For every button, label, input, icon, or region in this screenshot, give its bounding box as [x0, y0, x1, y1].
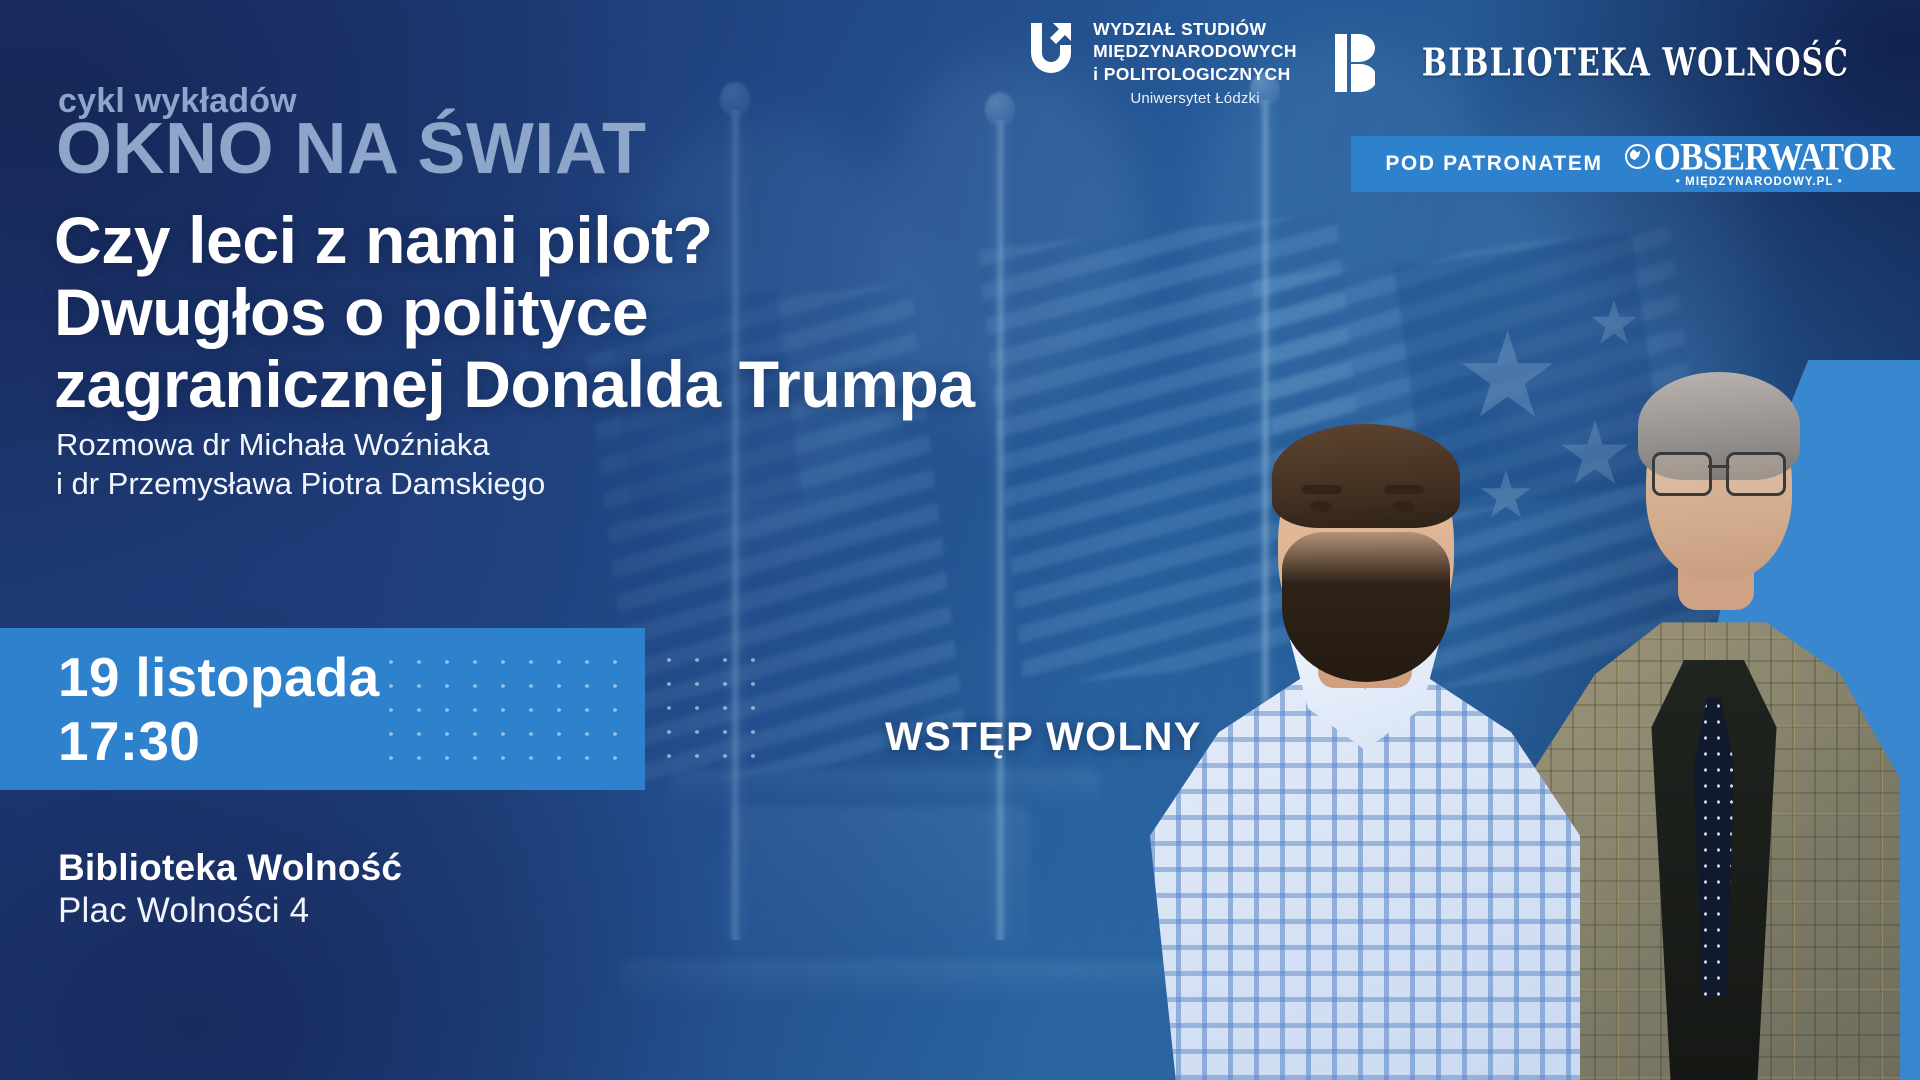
patron-label: POD PATRONATEM [1385, 152, 1602, 176]
university-faculty-line-1: WYDZIAŁ STUDIÓW [1093, 18, 1297, 40]
dot-pattern-inner [377, 650, 627, 770]
free-entry-label: WSTĘP WOLNY [885, 715, 1202, 760]
date-time-band: 19 listopada 17:30 [0, 628, 645, 790]
series-name: OKNO NA ŚWIAT [56, 112, 646, 188]
venue-name: Biblioteka Wolność [58, 845, 402, 890]
title-line-1: Czy leci z nami pilot? [54, 205, 975, 277]
ul-arrow-mark-icon [1027, 21, 1079, 75]
event-time: 17:30 [58, 710, 380, 774]
university-faculty-line-2: MIĘDZYNARODOWYCH [1093, 40, 1297, 62]
university-faculty-line-3: i POLITOLOGICZNYCH [1093, 63, 1297, 85]
logo-row: WYDZIAŁ STUDIÓW MIĘDZYNARODOWYCH i POLIT… [1027, 18, 1858, 107]
observator-wordmark: OBSERWATOR [1654, 137, 1894, 176]
page-title: Czy leci z nami pilot? Dwugłos o polityc… [54, 205, 975, 421]
library-wordmark: BIBLIOTEKA WOLNOŚĆ [1422, 40, 1849, 85]
university-logo: WYDZIAŁ STUDIÓW MIĘDZYNARODOWYCH i POLIT… [1027, 18, 1297, 107]
venue-address: Plac Wolności 4 [58, 890, 402, 933]
speaker-photos [1150, 280, 1920, 1080]
title-line-2: Dwugłos o polityce [54, 277, 975, 349]
speaker-line-1: Rozmowa dr Michała Woźniaka [56, 425, 545, 464]
venue-block: Biblioteka Wolność Plac Wolności 4 [58, 845, 402, 933]
globe-icon [1625, 144, 1650, 169]
title-line-3: zagranicznej Donalda Trumpa [54, 349, 975, 421]
dot-pattern-outer [655, 648, 767, 768]
speaker-photo-right [1528, 350, 1900, 1080]
speaker-line-2: i dr Przemysława Piotra Damskiego [56, 464, 545, 503]
event-poster: WYDZIAŁ STUDIÓW MIĘDZYNARODOWYCH i POLIT… [0, 0, 1920, 1080]
university-institution-name: Uniwersytet Łódzki [1093, 90, 1297, 107]
speaker-photo-left [1150, 380, 1580, 1080]
date-time-text: 19 listopada 17:30 [58, 646, 380, 774]
biblioteka-b-mark-icon [1335, 34, 1375, 92]
patron-bar: POD PATRONATEM OBSERWATOR • MIĘDZYNARODO… [1351, 136, 1920, 192]
observator-logo: OBSERWATOR • MIĘDZYNARODOWY.PL • [1625, 139, 1894, 189]
glasses-icon [1652, 452, 1786, 492]
event-date: 19 listopada [58, 646, 380, 710]
observator-subtitle: • MIĘDZYNARODOWY.PL • [1625, 177, 1894, 189]
speakers-text: Rozmowa dr Michała Woźniaka i dr Przemys… [56, 425, 545, 504]
